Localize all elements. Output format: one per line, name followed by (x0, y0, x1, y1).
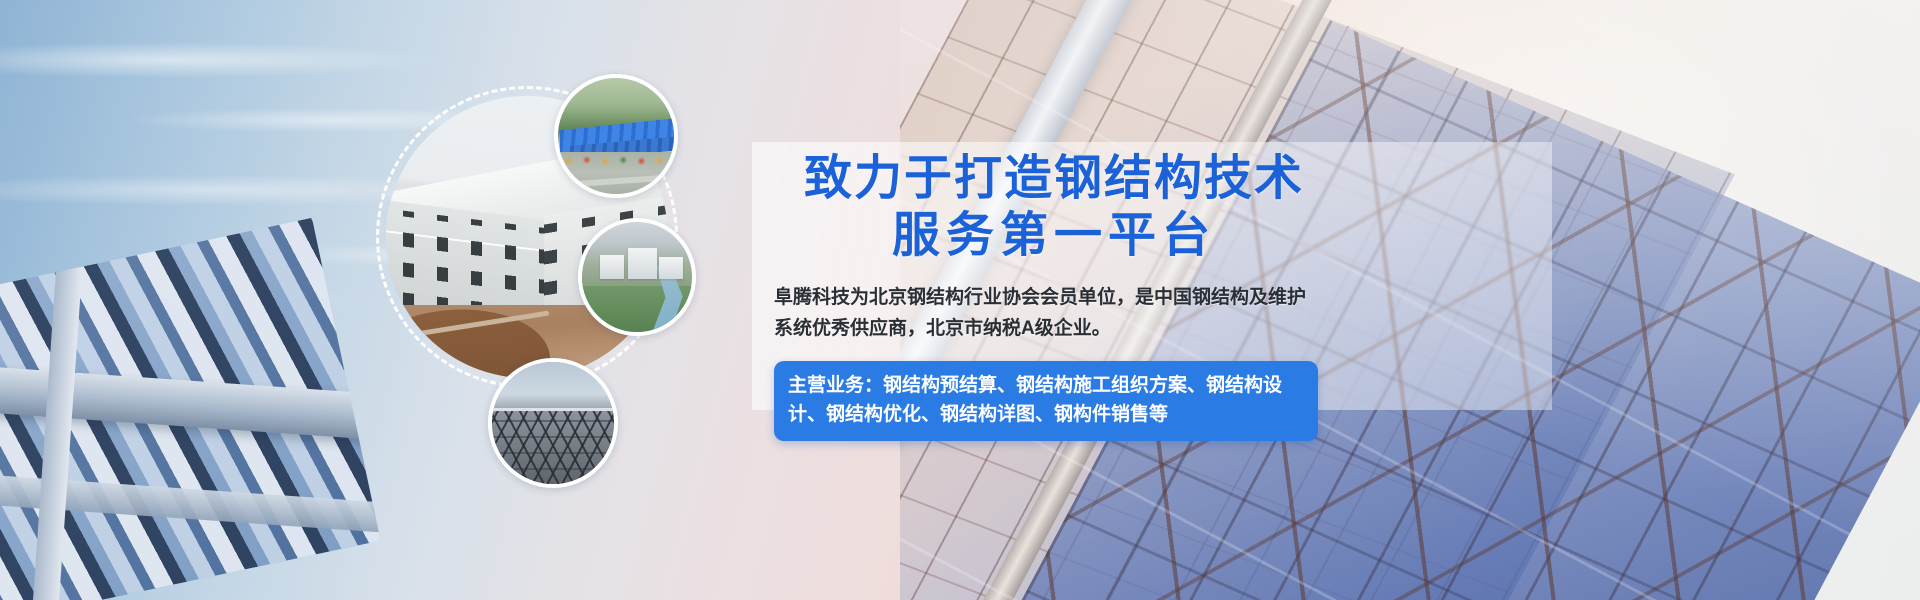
banner-lead-paragraph: 阜腾科技为北京钢结构行业协会会员单位，是中国钢结构及维护系统优秀供应商，北京市纳… (774, 283, 1314, 345)
hero-banner: 致力于打造钢结构技术 服务第一平台 阜腾科技为北京钢结构行业协会会员单位，是中国… (0, 0, 1920, 600)
campus-building-1 (600, 255, 624, 279)
headline-line-2: 服务第一平台 (774, 207, 1334, 264)
left-office-building-photo (0, 218, 381, 600)
main-business-badge: 主营业务：钢结构预结算、钢结构施工组织方案、钢结构设计、钢结构优化、钢结构详图、… (774, 361, 1318, 441)
campus-aerial-scene (582, 222, 692, 332)
circular-photo-cluster (368, 58, 748, 468)
space-frame-scene (492, 362, 614, 484)
banner-text-content: 致力于打造钢结构技术 服务第一平台 阜腾科技为北京钢结构行业协会会员单位，是中国… (752, 150, 1572, 441)
aerial-industrial-campus-photo (578, 218, 696, 336)
factory-aerial-scene (558, 78, 674, 194)
headline-line-1: 致力于打造钢结构技术 (804, 150, 1304, 206)
aerial-blue-roof-factory-photo (554, 74, 678, 198)
campus-building-2 (628, 248, 657, 279)
landscaping-trees (554, 150, 678, 169)
steel-truss-lattice (488, 411, 618, 487)
banner-headline: 致力于打造钢结构技术 服务第一平台 (774, 150, 1334, 263)
campus-building-3 (659, 257, 683, 279)
steel-space-frame-photo (488, 358, 618, 488)
